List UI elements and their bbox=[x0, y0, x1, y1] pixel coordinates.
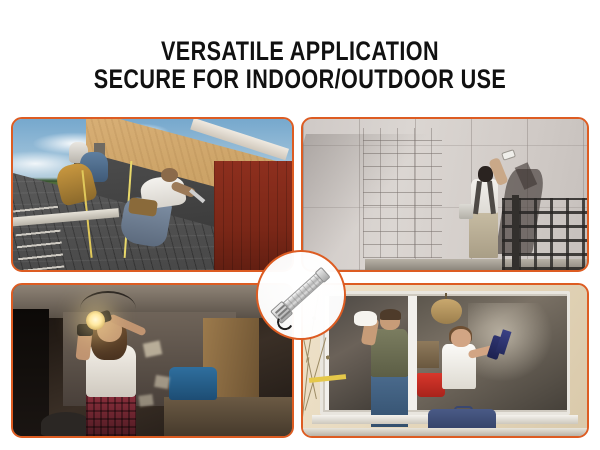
wall-picture-frame bbox=[417, 341, 440, 368]
photo-wall-painter bbox=[303, 119, 587, 270]
light-patch-2 bbox=[154, 374, 170, 388]
photo-roofing-crew bbox=[13, 119, 292, 270]
stool bbox=[41, 412, 91, 436]
roof-ladder bbox=[13, 201, 64, 270]
photo-window-cleaners bbox=[303, 285, 587, 436]
photo-bulb-installer bbox=[13, 285, 292, 436]
light-bulb-icon bbox=[86, 311, 106, 331]
counter-top bbox=[164, 397, 292, 436]
page-title: VERSATILE APPLICATION SECURE FOR INDOOR/… bbox=[0, 38, 600, 93]
worker-head bbox=[161, 168, 178, 182]
light-patch-3 bbox=[138, 394, 153, 406]
title-line-2: SECURE FOR INDOOR/OUTDOOR USE bbox=[60, 66, 540, 92]
blue-tarp-bundle bbox=[169, 367, 216, 400]
red-bucket bbox=[417, 373, 445, 397]
paint-bucket bbox=[459, 204, 473, 219]
vine-stem-4 bbox=[303, 358, 309, 421]
man-hair bbox=[380, 309, 401, 320]
gallery-cell-top-right bbox=[301, 117, 589, 272]
woman-plaid-skirt bbox=[86, 394, 136, 436]
scaffold-post bbox=[512, 195, 519, 271]
painter-trousers bbox=[469, 210, 497, 258]
title-line-1: VERSATILE APPLICATION bbox=[60, 38, 540, 64]
worker-foreground bbox=[119, 164, 203, 252]
woman-head bbox=[451, 329, 471, 347]
product-badge bbox=[256, 250, 346, 340]
gallery-cell-bottom-left bbox=[11, 283, 294, 438]
man-tshirt bbox=[371, 329, 408, 377]
gallery-cell-top-left bbox=[11, 117, 294, 272]
interior-light-glow bbox=[468, 303, 553, 382]
marketing-banner: VERSATILE APPLICATION SECURE FOR INDOOR/… bbox=[0, 0, 600, 450]
